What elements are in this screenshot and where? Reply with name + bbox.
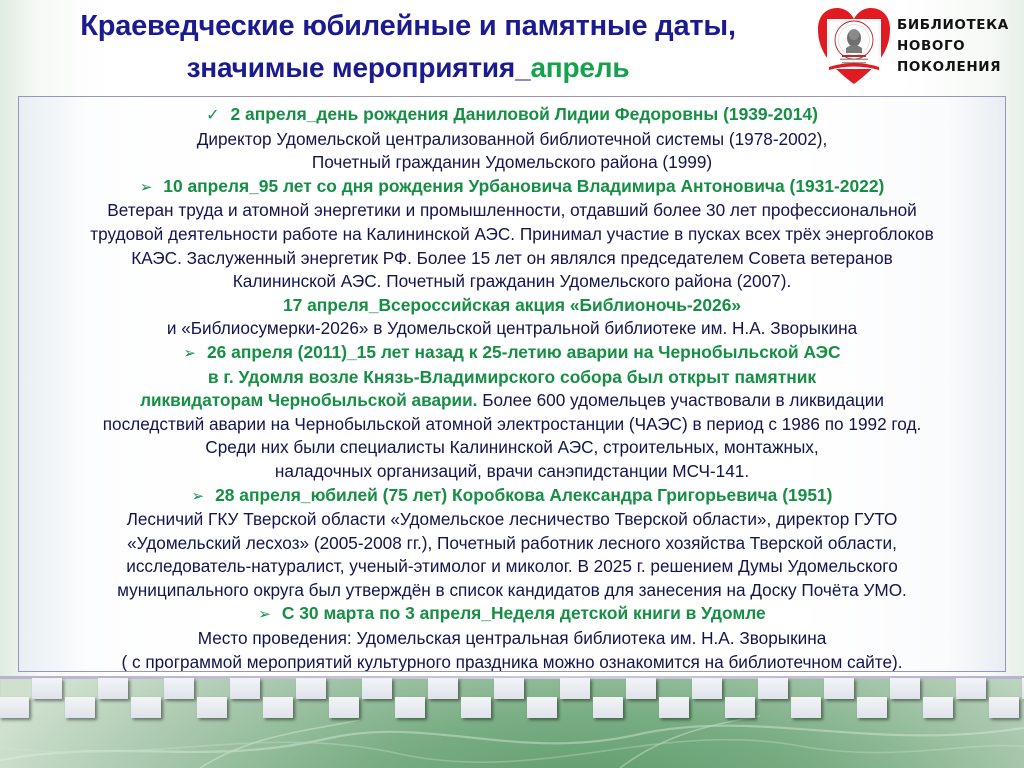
- event-body-4-mixed: ликвидаторам Чернобыльской аварии. Более…: [29, 389, 995, 413]
- event-body-4-green-part: ликвидаторам Чернобыльской аварии.: [140, 390, 477, 410]
- library-logo: Библиотека нового поколения: [818, 2, 1018, 90]
- checker-square: [131, 697, 161, 718]
- checker-square: [593, 697, 623, 718]
- checker-square: [296, 678, 326, 699]
- event-body-2-line-3: КАЭС. Заслуженный энергетик РФ. Более 15…: [29, 247, 995, 271]
- event-body-3-line-1: и «Библиосумерки-2026» в Удомельской цен…: [29, 317, 995, 341]
- checker-square: [956, 678, 986, 699]
- checker-square: [329, 697, 359, 718]
- event-body-4-line-1: последствий аварии на Чернобыльской атом…: [29, 413, 995, 437]
- event-heading-1: ✓2 апреля_день рождения Даниловой Лидии …: [29, 103, 995, 128]
- content-panel: ✓2 апреля_день рождения Даниловой Лидии …: [18, 96, 1006, 672]
- event-body-4-black-part: Более 600 удомельцев участвовали в ликви…: [477, 390, 884, 410]
- arrow-icon: ➢: [192, 485, 205, 509]
- checker-square: [527, 697, 557, 718]
- event-body-5-line-1: Лесничий ГКУ Тверской области «Удомельск…: [29, 508, 995, 532]
- logo-text-block: Библиотека нового поколения: [897, 18, 1009, 74]
- event-heading-5: ➢28 апреля_юбилей (75 лет) Коробкова Але…: [29, 484, 995, 509]
- arrow-icon: ➢: [140, 176, 153, 200]
- checker-square: [0, 697, 29, 718]
- checkerboard-pattern: [0, 676, 1024, 720]
- event-heading-5-text: 28 апреля_юбилей (75 лет) Коробкова Алек…: [215, 485, 832, 505]
- title-line-2: значимые мероприятия_апрель: [8, 47, 808, 88]
- event-body-5-line-3: исследователь-натуралист, ученый-этимоло…: [29, 555, 995, 579]
- logo-line-1: Библиотека: [897, 18, 1009, 32]
- checker-square: [725, 697, 755, 718]
- slide-header: Краеведческие юбилейные и памятные даты,…: [0, 0, 1024, 95]
- event-body-5-line-2: «Удомельский лесхоз» (2005-2008 гг.), По…: [29, 532, 995, 556]
- checker-square: [857, 697, 887, 718]
- arrow-icon: ➢: [183, 342, 196, 366]
- checker-square: [197, 697, 227, 718]
- event-body-6-line-1: Место проведения: Удомельская центральна…: [29, 627, 995, 651]
- title-line-1: Краеведческие юбилейные и памятные даты,: [8, 6, 808, 47]
- checker-square: [263, 697, 293, 718]
- checker-square: [395, 697, 425, 718]
- event-body-1-line-2: Почетный гражданин Удомельского района (…: [29, 151, 995, 175]
- arrow-icon: ➢: [258, 603, 271, 627]
- checker-square: [659, 697, 689, 718]
- decorative-footer-band: [0, 676, 1024, 768]
- slide-root: Краеведческие юбилейные и памятные даты,…: [0, 0, 1024, 768]
- logo-line-3: поколения: [897, 60, 1009, 74]
- event-heading-6-text: С 30 марта по 3 апреля_Неделя детской кн…: [282, 603, 766, 623]
- title-separator: _: [515, 52, 530, 83]
- event-heading-1-text: 2 апреля_день рождения Даниловой Лидии Ф…: [231, 104, 818, 124]
- checker-square: [98, 678, 128, 699]
- checker-square: [428, 678, 458, 699]
- checker-square: [230, 678, 260, 699]
- checker-square: [989, 697, 1019, 718]
- checker-square: [362, 678, 392, 699]
- checker-square: [692, 678, 722, 699]
- checker-square: [164, 678, 194, 699]
- checker-square: [32, 678, 62, 699]
- checker-square: [791, 697, 821, 718]
- event-heading-2-text: 10 апреля_95 лет со дня рождения Урбанов…: [163, 176, 884, 196]
- event-body-4-line-3: наладочных организаций, врачи санэпидста…: [29, 460, 995, 484]
- event-body-2-line-4: Калининской АЭС. Почетный гражданин Удом…: [29, 270, 995, 294]
- checker-square: [461, 697, 491, 718]
- page-title: Краеведческие юбилейные и памятные даты,…: [8, 6, 808, 88]
- checker-square: [923, 697, 953, 718]
- event-heading-4-cont: в г. Удомля возле Князь-Владимирского со…: [29, 366, 995, 390]
- checker-square: [560, 678, 590, 699]
- checker-square: [890, 678, 920, 699]
- checker-square: [494, 678, 524, 699]
- event-heading-3: 17 апреля_Всероссийская акция «Библионоч…: [29, 294, 995, 318]
- checker-square: [65, 697, 95, 718]
- checker-square: [626, 678, 656, 699]
- event-body-2-line-2: трудовой деятельности работе на Калининс…: [29, 223, 995, 247]
- event-heading-2: ➢10 апреля_95 лет со дня рождения Урбано…: [29, 175, 995, 200]
- checker-square: [824, 678, 854, 699]
- event-body-6-line-2: ( с программой мероприятий культурного п…: [29, 651, 995, 672]
- check-icon: ✓: [206, 104, 219, 128]
- library-heart-book-logo-icon: [818, 7, 890, 85]
- event-heading-6: ➢С 30 марта по 3 апреля_Неделя детской к…: [29, 602, 995, 627]
- event-heading-4: ➢26 апреля (2011)_15 лет назад к 25-лети…: [29, 341, 995, 366]
- event-body-5-line-4: муниципального округа был утверждён в сп…: [29, 579, 995, 603]
- event-body-1-line-1: Директор Удомельской централизованной би…: [29, 128, 995, 152]
- event-body-2-line-1: Ветеран труда и атомной энергетики и про…: [29, 199, 995, 223]
- event-body-4-line-2: Среди них были специалисты Калининской А…: [29, 436, 995, 460]
- checker-square: [758, 678, 788, 699]
- logo-line-2: нового: [897, 39, 1009, 53]
- title-main-text: значимые мероприятия: [187, 52, 515, 83]
- title-accent-text: апрель: [530, 52, 629, 83]
- event-heading-4-text: 26 апреля (2011)_15 лет назад к 25-летию…: [207, 342, 841, 362]
